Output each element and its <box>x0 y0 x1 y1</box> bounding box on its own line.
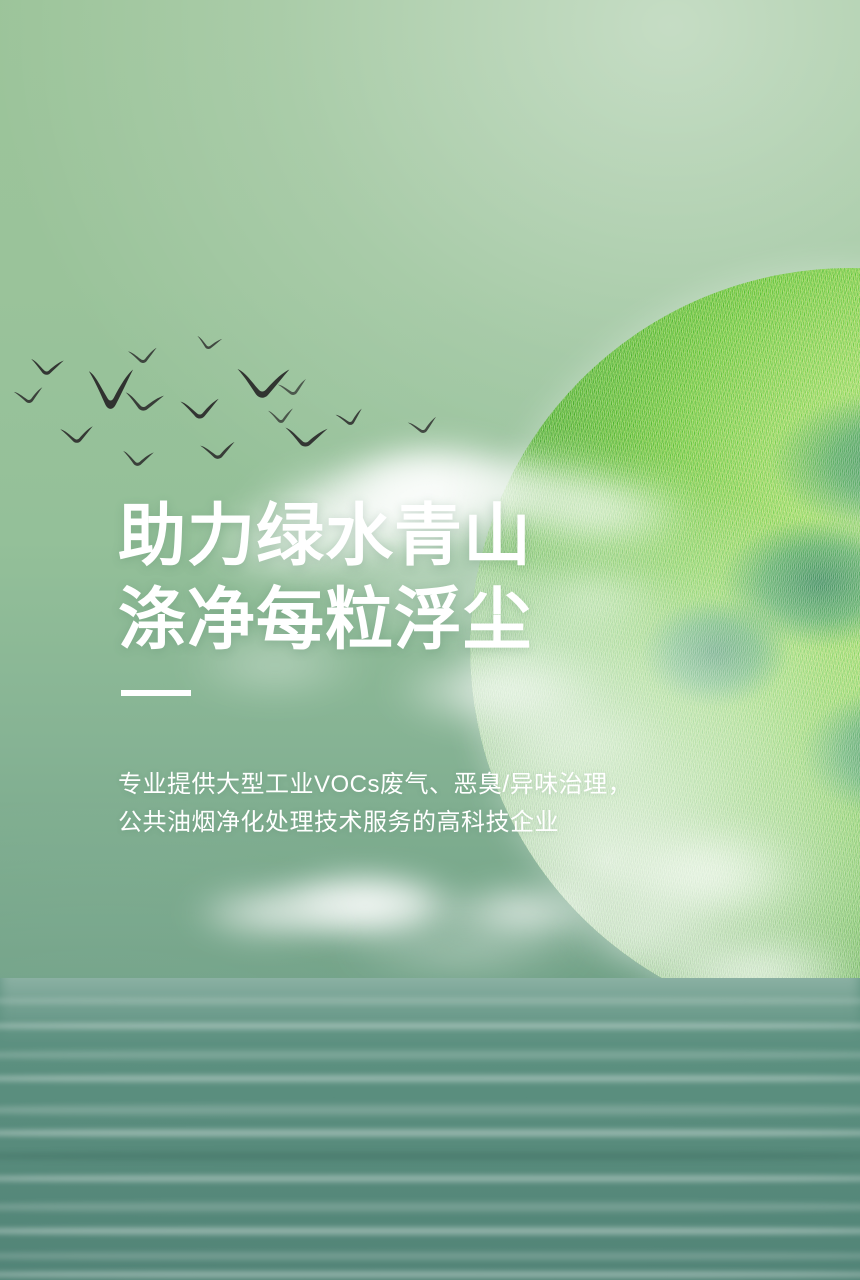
bird-icon <box>123 390 165 414</box>
waterline-haze <box>0 978 860 1040</box>
headline-line-1: 助力绿水青山 <box>118 494 532 578</box>
bird-icon <box>13 386 45 406</box>
wave-line <box>0 1048 860 1062</box>
bird-icon <box>179 397 220 421</box>
bird-icon <box>335 407 366 428</box>
wave-line <box>0 1250 860 1262</box>
wave-line <box>0 1074 860 1083</box>
divider-rule <box>121 690 191 696</box>
bird-icon <box>127 346 159 365</box>
water-surface <box>0 978 860 1280</box>
wave-line <box>0 1150 860 1162</box>
wave-line <box>0 1102 860 1118</box>
subtitle-line-2: 公共油烟净化处理技术服务的高科技企业 <box>118 804 632 842</box>
wave-line <box>0 1174 860 1183</box>
headline-line-2: 涤净每粒浮尘 <box>118 578 532 662</box>
poster-canvas: 助力绿水青山 涤净每粒浮尘 专业提供大型工业VOCs废气、恶臭/异味治理， 公共… <box>0 0 860 1280</box>
bird-icon <box>121 449 154 468</box>
bird-icon <box>199 440 236 461</box>
wave-line <box>0 1270 860 1279</box>
bird-icon <box>407 416 439 437</box>
wave-line <box>0 1226 860 1236</box>
bird-icon <box>195 334 223 351</box>
headline: 助力绿水青山 涤净每粒浮尘 <box>118 494 532 662</box>
bird-icon <box>59 425 94 445</box>
bird-icon <box>283 425 328 449</box>
bird-icon <box>29 357 64 377</box>
bird-flock <box>0 330 470 470</box>
wave-line <box>0 1128 860 1138</box>
subtitle-line-1: 专业提供大型工业VOCs废气、恶臭/异味治理， <box>118 766 632 804</box>
subtitle: 专业提供大型工业VOCs废气、恶臭/异味治理， 公共油烟净化处理技术服务的高科技… <box>118 766 632 842</box>
bird-icon <box>267 407 294 425</box>
wave-line <box>0 1200 860 1214</box>
